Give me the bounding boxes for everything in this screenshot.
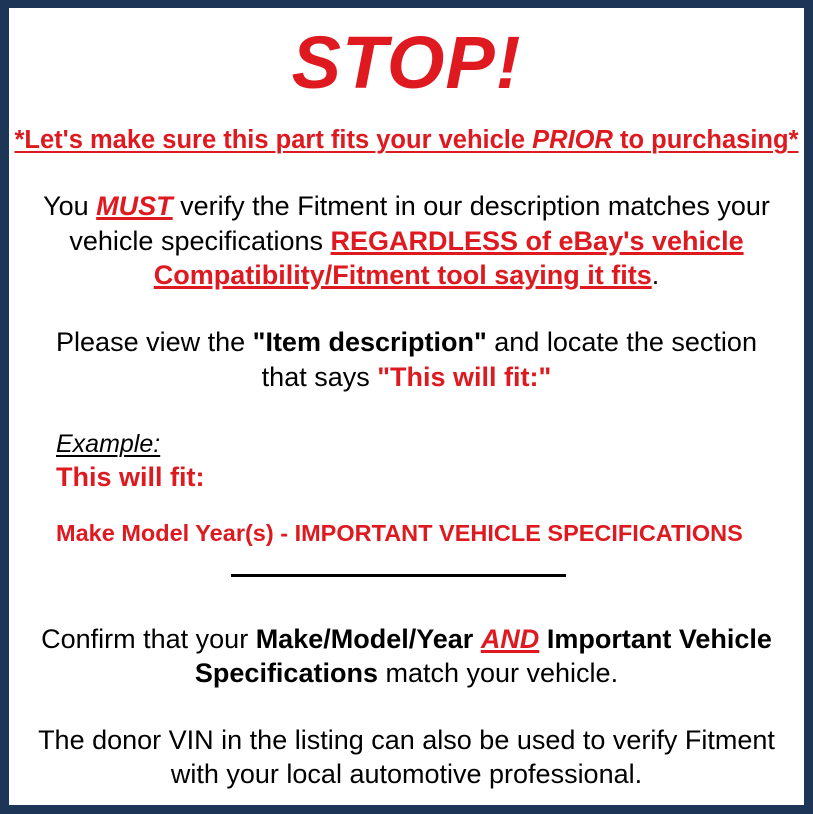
example-label: Example: (56, 430, 160, 458)
must-text-part3: . (652, 260, 660, 290)
must-text-part1: You (43, 191, 96, 221)
make-model-year-emphasis: Make/Model/Year (256, 624, 474, 654)
fitment-notice-banner: STOP! *Let's make sure this part fits yo… (0, 0, 813, 814)
confirm-paragraph: Confirm that your Make/Model/Year AND Im… (9, 592, 804, 691)
confirm-text-part2: match your vehicle. (378, 658, 618, 688)
section-divider (231, 574, 566, 577)
view-text-part1: Please view the (56, 327, 253, 357)
must-emphasis: MUST (96, 191, 173, 221)
example-label-row: Example: (56, 430, 804, 458)
confirm-space-1 (473, 624, 481, 654)
vin-paragraph: The donor VIN in the listing can also be… (9, 691, 804, 792)
subtitle-line: *Let's make sure this part fits your veh… (9, 100, 804, 155)
item-description-label: "Item description" (253, 327, 487, 357)
thank-you-line: Thank you for confirming Fitment! (9, 792, 804, 814)
example-fit-heading: This will fit: (56, 458, 804, 493)
and-emphasis: AND (481, 624, 540, 654)
subtitle-emphasis-prior: PRIOR (532, 126, 613, 154)
confirm-text-part1: Confirm that your (41, 624, 256, 654)
example-spec-line: Make Model Year(s) - IMPORTANT VEHICLE S… (56, 493, 804, 547)
this-will-fit-quote: "This will fit:" (377, 362, 551, 392)
subtitle-text-after: to purchasing* (613, 126, 799, 154)
item-description-paragraph: Please view the "Item description" and l… (9, 293, 804, 394)
notice-content: STOP! *Let's make sure this part fits yo… (9, 8, 804, 805)
divider-wrapper (9, 548, 804, 592)
subtitle-text-before: *Let's make sure this part fits your veh… (14, 126, 532, 154)
must-verify-paragraph: You MUST verify the Fitment in our descr… (9, 155, 804, 293)
stop-headline: STOP! (9, 8, 804, 100)
confirm-space-2 (539, 624, 547, 654)
example-block: Example: This will fit: Make Model Year(… (9, 394, 804, 548)
